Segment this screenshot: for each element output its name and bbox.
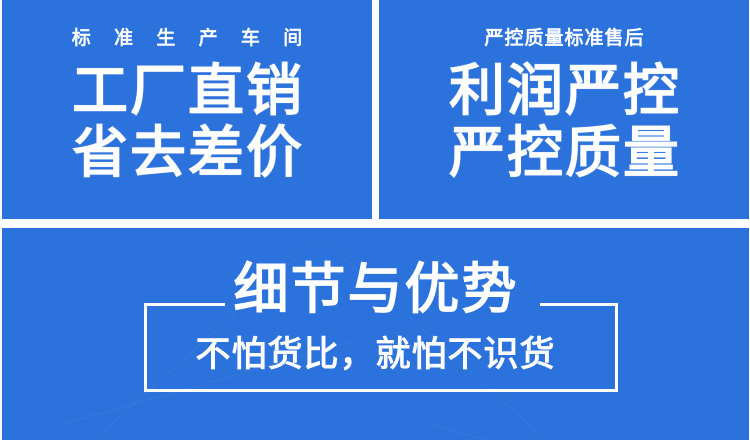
- top-panel-row: 标 准 生 产 车 间 工厂直销 省去差价 严控质量标准售后 利润严控 严控质量: [0, 0, 750, 219]
- right-panel-headline-line2: 严控质量: [447, 123, 681, 183]
- right-panel-eyebrow: 严控质量标准售后: [483, 29, 644, 48]
- left-panel-eyebrow: 标 准 生 产 车 间: [63, 29, 311, 48]
- bottom-panel-subtitle: 不怕货比，就怕不识货: [0, 337, 750, 372]
- decorative-diagonal-line: [432, 424, 721, 440]
- left-panel-headline-line2: 省去差价: [70, 123, 304, 183]
- panel-factory-direct: 标 准 生 产 车 间 工厂直销 省去差价: [2, 0, 372, 219]
- panel-quality-control: 严控质量标准售后 利润严控 严控质量: [379, 0, 749, 219]
- bottom-panel-title: 细节与优势: [0, 262, 750, 317]
- promo-banner: 标 准 生 产 车 间 工厂直销 省去差价 严控质量标准售后 利润严控 严控质量…: [0, 0, 750, 440]
- left-panel-headline-line1: 工厂直销: [70, 61, 304, 121]
- right-panel-headline-line1: 利润严控: [447, 61, 681, 121]
